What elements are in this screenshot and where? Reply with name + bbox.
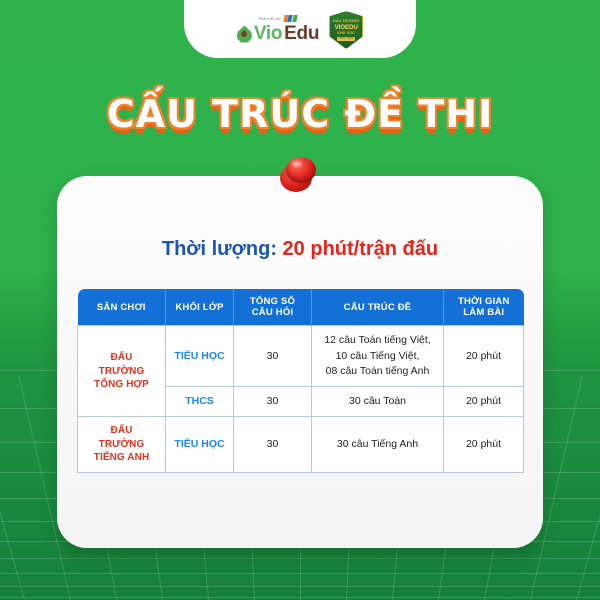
wordmark-vio: Vio bbox=[254, 23, 282, 45]
content-card: Thời lượng: 20 phút/trận đấu SÂN CHƠIKHỐ… bbox=[57, 176, 543, 548]
arena-name-line-3: TIẾNG ANH bbox=[81, 451, 162, 465]
grade-cell: THCS bbox=[166, 387, 234, 417]
vioedu-logo: Phát triển bởi VioEdu bbox=[237, 15, 319, 45]
table-header-cell-4: THỜI GIANLÀM BÀI bbox=[444, 289, 524, 326]
grid-line-horizontal bbox=[0, 586, 600, 587]
arena-name-cell: ĐẤUTRƯỜNGTIẾNG ANH bbox=[78, 417, 166, 473]
region-arena-badge-icon: ĐẤU TRƯỜNG VIOEDU KHU VỰC 2024 - 2025 bbox=[329, 11, 363, 49]
grid-line-vertical bbox=[0, 378, 25, 600]
grid-line-horizontal bbox=[0, 597, 600, 598]
table-row: ĐẤUTRƯỜNGTỔNG HỢPTIỂU HỌC3012 câu Toán t… bbox=[78, 326, 524, 387]
grid-line-vertical bbox=[576, 378, 600, 600]
grade-cell: TIỂU HỌC bbox=[166, 417, 234, 473]
red-pushpin-icon bbox=[278, 156, 322, 196]
poster-canvas: Phát triển bởi VioEdu ĐẤU TRƯỜNG VIOEDU … bbox=[0, 0, 600, 600]
vioedu-droplet-icon bbox=[237, 26, 252, 43]
arena-name-line-2: TRƯỜNG bbox=[81, 365, 162, 379]
duration-cell: 20 phút bbox=[444, 326, 524, 387]
fpt-credit-line: Phát triển bởi bbox=[259, 15, 297, 22]
grid-line-horizontal bbox=[0, 573, 600, 574]
total-questions-cell: 30 bbox=[234, 417, 312, 473]
fpt-logo-icon bbox=[284, 15, 297, 22]
table-row: ĐẤUTRƯỜNGTIẾNG ANHTIỂU HỌC3030 câu Tiếng… bbox=[78, 417, 524, 473]
duration-cell: 20 phút bbox=[444, 417, 524, 473]
fpt-credit-text: Phát triển bởi bbox=[259, 17, 281, 21]
arena-name-line-1: ĐẤU bbox=[81, 351, 162, 365]
structure-line-2: 10 câu Tiếng Việt, bbox=[315, 349, 440, 364]
duration-subtitle: Thời lượng: 20 phút/trận đấu bbox=[57, 238, 543, 261]
table-body: ĐẤUTRƯỜNGTỔNG HỢPTIỂU HỌC3012 câu Toán t… bbox=[78, 326, 524, 472]
badge-line-2: VIOEDU bbox=[335, 24, 358, 32]
badge-line-3: KHU VỰC bbox=[337, 31, 354, 35]
table-header: SÂN CHƠIKHỐI LỚPTỔNG SỐCÂU HỎICẤU TRÚC Đ… bbox=[78, 289, 524, 326]
grade-cell: TIỂU HỌC bbox=[166, 326, 234, 387]
structure-line-3: 08 câu Toán tiếng Anh bbox=[315, 364, 440, 379]
header-line-1: SÂN CHƠI bbox=[80, 302, 164, 313]
page-title: CẤU TRÚC ĐỀ THI bbox=[0, 92, 600, 136]
header-line-1: CẤU TRÚC ĐỀ bbox=[314, 302, 441, 313]
table-header-cell-0: SÂN CHƠI bbox=[78, 289, 166, 326]
header-line-2: CÂU HỎI bbox=[236, 307, 309, 318]
wordmark-edu: Edu bbox=[284, 23, 319, 45]
arena-name-line-1: ĐẤU bbox=[81, 424, 162, 438]
arena-name-line-3: TỔNG HỢP bbox=[81, 378, 162, 392]
arena-name-line-2: TRƯỜNG bbox=[81, 438, 162, 452]
structure-cell: 30 câu Toán bbox=[312, 387, 444, 417]
total-questions-cell: 30 bbox=[234, 387, 312, 417]
logo-row: Phát triển bởi VioEdu ĐẤU TRƯỜNG VIOEDU … bbox=[237, 11, 363, 49]
structure-cell: 30 câu Tiếng Anh bbox=[312, 417, 444, 473]
table-header-cell-2: TỔNG SỐCÂU HỎI bbox=[234, 289, 312, 326]
header-line-1: THỜI GIAN bbox=[446, 296, 522, 307]
header-line-1: TỔNG SỐ bbox=[236, 296, 309, 307]
badge-ribbon: 2024 - 2025 bbox=[337, 37, 355, 41]
table-header-row: SÂN CHƠIKHỐI LỚPTỔNG SỐCÂU HỎICẤU TRÚC Đ… bbox=[78, 289, 524, 326]
duration-cell: 20 phút bbox=[444, 387, 524, 417]
duration-value: 20 phút/trận đấu bbox=[283, 238, 439, 260]
total-questions-cell: 30 bbox=[234, 326, 312, 387]
exam-structure-table: SÂN CHƠIKHỐI LỚPTỔNG SỐCÂU HỎICẤU TRÚC Đ… bbox=[77, 289, 524, 473]
logo-header-bar: Phát triển bởi VioEdu ĐẤU TRƯỜNG VIOEDU … bbox=[184, 0, 416, 58]
table-header-cell-3: CẤU TRÚC ĐỀ bbox=[312, 289, 444, 326]
vioedu-wordmark: VioEdu bbox=[237, 23, 319, 45]
structure-line-1: 30 câu Tiếng Anh bbox=[315, 437, 440, 452]
structure-line-1: 12 câu Toán tiếng Việt, bbox=[315, 333, 440, 348]
arena-name-cell: ĐẤUTRƯỜNGTỔNG HỢP bbox=[78, 326, 166, 417]
header-line-2: LÀM BÀI bbox=[446, 307, 522, 318]
structure-line-1: 30 câu Toán bbox=[315, 394, 440, 409]
header-line-1: KHỐI LỚP bbox=[168, 302, 231, 313]
table-header-cell-1: KHỐI LỚP bbox=[166, 289, 234, 326]
grid-line-horizontal bbox=[0, 558, 600, 559]
duration-label: Thời lượng: bbox=[162, 238, 277, 260]
structure-cell: 12 câu Toán tiếng Việt,10 câu Tiếng Việt… bbox=[312, 326, 444, 387]
